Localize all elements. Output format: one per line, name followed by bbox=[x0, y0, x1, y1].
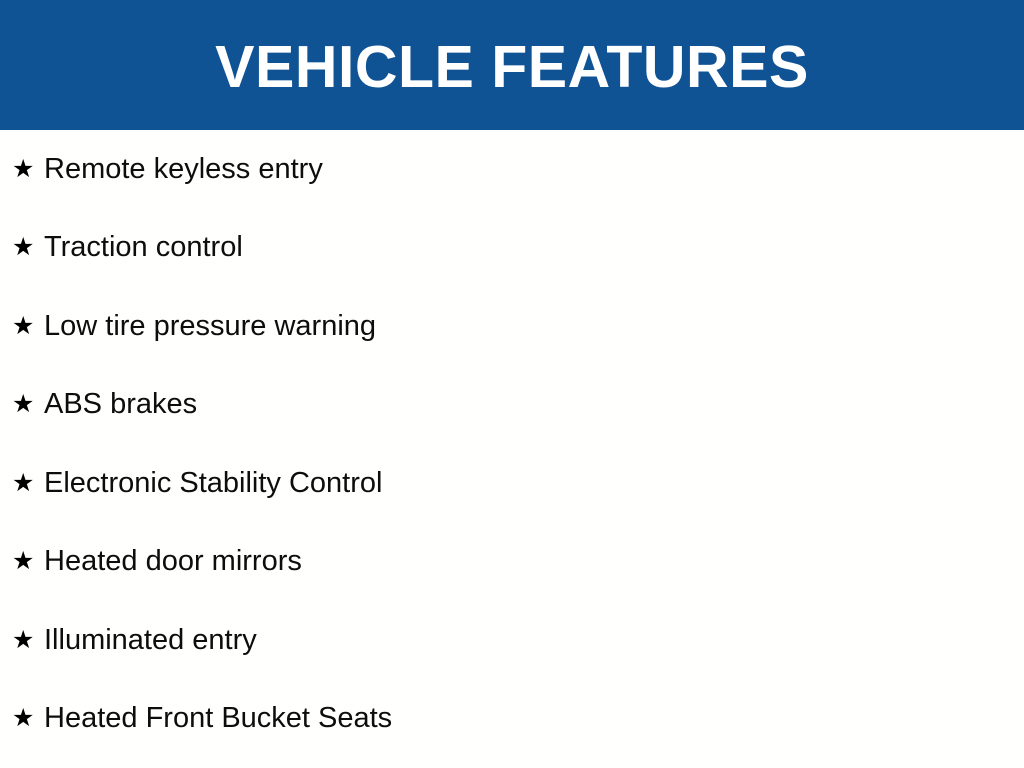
feature-label: Low tire pressure warning bbox=[44, 310, 376, 343]
star-icon: ★ bbox=[12, 234, 44, 259]
feature-label: Heated door mirrors bbox=[44, 545, 302, 578]
list-item: ★ Remote keyless entry bbox=[0, 130, 1024, 209]
star-icon: ★ bbox=[12, 548, 44, 573]
list-item: ★ Low tire pressure warning bbox=[0, 287, 1024, 366]
star-icon: ★ bbox=[12, 391, 44, 416]
feature-label: Illuminated entry bbox=[44, 624, 257, 657]
header-banner: VEHICLE FEATURES bbox=[0, 0, 1024, 130]
list-item: ★ Heated Front Bucket Seats bbox=[0, 680, 1024, 759]
list-item: ★ Illuminated entry bbox=[0, 601, 1024, 680]
feature-label: ABS brakes bbox=[44, 388, 197, 421]
star-icon: ★ bbox=[12, 313, 44, 338]
list-item: ★ Heated door mirrors bbox=[0, 523, 1024, 602]
star-icon: ★ bbox=[12, 156, 44, 181]
star-icon: ★ bbox=[12, 470, 44, 495]
feature-label: Heated Front Bucket Seats bbox=[44, 702, 392, 735]
star-icon: ★ bbox=[12, 627, 44, 652]
feature-label: Traction control bbox=[44, 231, 243, 264]
page-title: VEHICLE FEATURES bbox=[215, 38, 809, 97]
feature-label: Remote keyless entry bbox=[44, 153, 323, 186]
star-icon: ★ bbox=[12, 705, 44, 730]
list-item: ★ ABS brakes bbox=[0, 366, 1024, 445]
feature-label: Electronic Stability Control bbox=[44, 467, 382, 500]
features-list: ★ Remote keyless entry ★ Traction contro… bbox=[0, 130, 1024, 768]
vehicle-features-slide: VEHICLE FEATURES ★ Remote keyless entry … bbox=[0, 0, 1024, 768]
list-item: ★ Traction control bbox=[0, 209, 1024, 288]
list-item: ★ Electronic Stability Control bbox=[0, 444, 1024, 523]
